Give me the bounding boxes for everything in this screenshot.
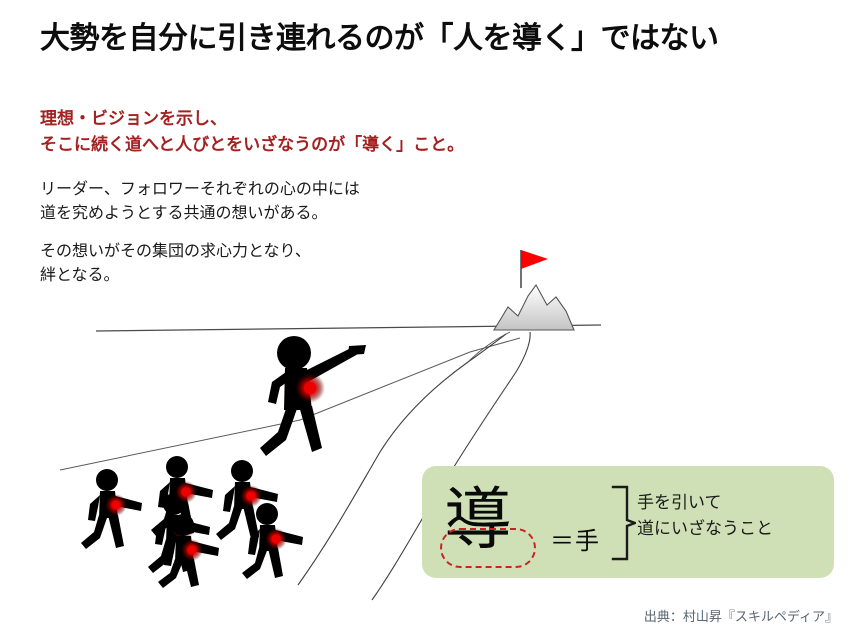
kanji-desc-line-2: 道にいざなうこと xyxy=(637,516,773,542)
follower-5-front-leg xyxy=(243,506,259,539)
body-paragraph-1: リーダー、フォロワーそれぞれの心の中には 道を究めようとする共通の想いがある。 xyxy=(40,178,660,226)
leader-figure xyxy=(260,336,366,456)
follower-6-back-arm xyxy=(248,529,260,555)
follower-3-front-leg xyxy=(178,502,194,535)
follower-figure-2 xyxy=(148,493,210,573)
follower-2-back-arm xyxy=(155,519,167,545)
follower-figure-6 xyxy=(242,503,303,579)
leader-heart-glow xyxy=(295,373,325,403)
kanji-equals-label: ＝手 xyxy=(550,521,600,556)
follower-3-heart-icon xyxy=(182,488,191,497)
follower-4-heart-icon xyxy=(188,546,197,555)
leader-back-leg xyxy=(260,406,298,456)
follower-4-head xyxy=(172,514,194,536)
follower-5-arm xyxy=(245,486,278,502)
kanji-desc-line-1: 手を引いて xyxy=(637,490,773,516)
follower-figure-1 xyxy=(81,469,142,549)
follower-2-back-leg xyxy=(148,539,175,573)
source-citation: 出典：村山昇『スキルペディア』 xyxy=(644,606,838,625)
follower-3-heart-glow xyxy=(175,481,197,503)
follower-1-front-leg xyxy=(108,515,124,548)
follower-5-head xyxy=(231,460,253,482)
follower-2-arm xyxy=(177,519,210,535)
follower-5-torso xyxy=(234,482,253,509)
follower-4-torso xyxy=(175,536,194,562)
follower-1-back-arm xyxy=(88,495,100,521)
body-2-line-2: 絆となる。 xyxy=(40,264,660,288)
follower-figure-3 xyxy=(151,456,213,536)
follower-5-heart-icon xyxy=(247,492,256,501)
follower-2-front-leg xyxy=(175,539,191,572)
follower-3-torso xyxy=(169,478,188,505)
follower-1-torso xyxy=(99,491,118,518)
leader-torso xyxy=(284,368,312,410)
kanji-description: 手を引いて 道にいざなうこと xyxy=(637,490,773,543)
kanji-explanation-box: 導 ＝手 手を引いて 道にいざなうこと xyxy=(422,466,834,578)
follower-6-arm xyxy=(270,529,303,545)
body-1-line-1: リーダー、フォロワーそれぞれの心の中には xyxy=(40,178,660,202)
mountain-shape xyxy=(494,285,574,330)
foreground-slope-line xyxy=(60,338,520,470)
follower-3-back-leg xyxy=(151,502,178,536)
follower-1-back-leg xyxy=(81,515,108,549)
follower-4-heart-glow xyxy=(181,539,203,561)
page-title: 大勢を自分に引き連れるのが「人を導く」ではない xyxy=(40,20,830,58)
horizon-line xyxy=(96,325,601,331)
leader-pointing-arm xyxy=(303,349,358,382)
follower-4-front-leg xyxy=(184,559,199,587)
follower-2-heart-icon xyxy=(179,525,188,534)
brace-icon xyxy=(610,484,636,562)
body-1-line-2: 道を究めようとする共通の想いがある。 xyxy=(40,202,660,226)
follower-6-front-leg xyxy=(268,548,283,578)
lead-line-1: 理想・ビジョンを示し、 xyxy=(40,106,660,132)
body-paragraph-2: その想いがその集団の求心力となり、 絆となる。 xyxy=(40,240,660,288)
follower-2-heart-glow xyxy=(172,518,194,540)
lead-line-2: そこに続く道へと人びとをいざなうのが「導く」こと。 xyxy=(40,132,660,158)
slide-canvas: 大勢を自分に引き連れるのが「人を導く」ではない 理想・ビジョンを示し、 そこに続… xyxy=(0,0,860,642)
follower-4-back-arm xyxy=(164,540,176,566)
follower-2-head xyxy=(163,493,185,515)
follower-3-back-arm xyxy=(158,482,170,508)
path-junction-curve xyxy=(468,332,510,362)
follower-1-head xyxy=(96,469,118,491)
follower-figure-5 xyxy=(216,460,278,540)
leader-back-arm xyxy=(268,372,290,404)
follower-1-heart-glow xyxy=(105,494,127,516)
lead-paragraph: 理想・ビジョンを示し、 そこに続く道へと人びとをいざなうのが「導く」こと。 xyxy=(40,106,660,159)
follower-1-arm xyxy=(110,495,142,511)
follower-2-torso xyxy=(166,515,185,542)
follower-6-head xyxy=(256,503,278,525)
kanji-radical-highlight-ellipse xyxy=(440,528,536,568)
leader-front-leg xyxy=(299,406,322,452)
follower-1-heart-icon xyxy=(112,501,121,510)
follower-3-head xyxy=(166,456,188,478)
follower-figure-4 xyxy=(158,514,219,588)
follower-5-back-arm xyxy=(223,486,235,512)
follower-4-arm xyxy=(186,540,219,556)
leader-heart-icon xyxy=(304,382,316,394)
follower-6-back-leg xyxy=(242,548,268,579)
follower-4-back-leg xyxy=(158,559,184,588)
follower-5-back-leg xyxy=(216,506,243,540)
follower-6-torso xyxy=(259,525,278,551)
leader-hand xyxy=(348,345,366,355)
follower-6-heart-glow xyxy=(265,528,287,550)
follower-5-heart-glow xyxy=(240,485,262,507)
follower-6-heart-icon xyxy=(272,535,281,544)
body-2-line-1: その想いがその集団の求心力となり、 xyxy=(40,240,660,264)
follower-3-arm xyxy=(180,482,213,498)
leader-head xyxy=(277,336,311,370)
